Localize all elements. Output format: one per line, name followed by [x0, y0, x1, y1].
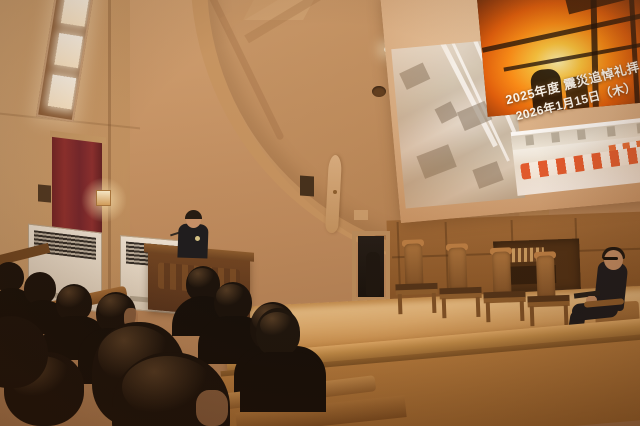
- hair-highlight: [260, 312, 294, 338]
- chair-leg: [564, 305, 569, 325]
- window-pane: [54, 33, 83, 68]
- chair-back: [492, 251, 511, 294]
- chair-back: [448, 247, 467, 290]
- audience-shoulders: [240, 352, 326, 412]
- window-pane: [61, 0, 90, 27]
- chair-leg: [398, 294, 403, 314]
- chair-leg: [432, 293, 437, 313]
- hair-highlight: [216, 284, 246, 308]
- speaker-box-icon: [38, 184, 51, 202]
- hair-highlight: [188, 268, 216, 290]
- hair-highlight: [58, 286, 88, 310]
- chair-leg: [520, 301, 525, 321]
- vent-hole-icon: [372, 86, 386, 97]
- window-pane: [48, 74, 77, 109]
- screen-vignette: [380, 0, 640, 223]
- speaker-box-icon: [300, 176, 314, 197]
- chair-back: [536, 255, 555, 298]
- wall-seam: [108, 0, 111, 290]
- projection-screen: 2025年度 震災追悼礼拝 2026年1月15日（木）: [380, 0, 640, 223]
- chair-leg: [530, 306, 535, 326]
- chair-leg: [476, 297, 481, 317]
- wall-plate: [354, 210, 368, 220]
- audience-face: [196, 390, 228, 426]
- wall-sconce: [96, 190, 111, 206]
- presenter-torso: [177, 223, 208, 258]
- door-frame: [352, 231, 390, 301]
- screenshot-root: 2025年度 震災追悼礼拝 2026年1月15日（木）: [0, 0, 640, 426]
- chair-back: [404, 243, 423, 286]
- ornament-detail: [333, 190, 337, 194]
- glasses-icon: [603, 257, 618, 260]
- chair-leg: [442, 298, 447, 318]
- seated-man-head: [604, 250, 623, 270]
- presenter-badge: [195, 236, 200, 241]
- chair-leg: [486, 302, 491, 322]
